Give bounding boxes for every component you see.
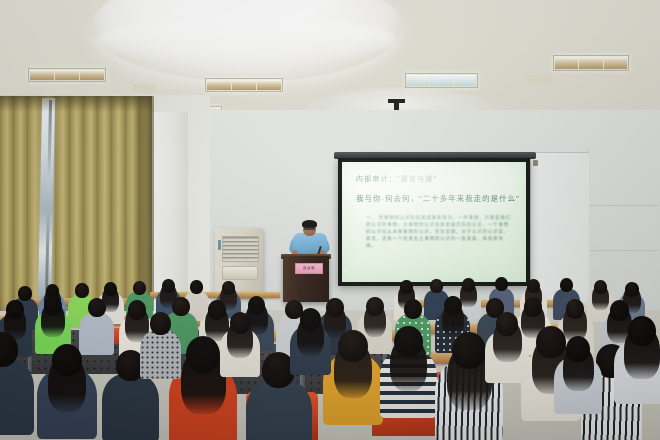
slide-subtitle-line: 我与你·何去何，"二十多年来我走的是什么" [356, 193, 514, 204]
slide-body-text: 一、 世事物的认识阶段其成果表现为，一件事情，只要是我们所认识的事物，大事物的认… [356, 214, 514, 249]
student-head [536, 326, 566, 358]
student-torso [0, 359, 34, 434]
student-head [6, 300, 24, 319]
lectern-sign-text: 讲台席 [303, 266, 315, 271]
glasses-icon [304, 227, 315, 230]
student-head [610, 300, 629, 321]
student-head [430, 279, 443, 293]
air-conditioner-control-panel[interactable] [222, 266, 258, 280]
student-head [88, 298, 106, 317]
student-head [300, 308, 321, 331]
student-head [326, 298, 344, 317]
student-head [496, 312, 518, 336]
student-head [172, 297, 190, 316]
student-torso [140, 330, 182, 379]
student-head [495, 277, 508, 291]
ceiling-dome-large-rim [96, 16, 396, 64]
screen-surface: 内部审计："语言与道" 我与你·何去何，"二十多年来我走的是什么" 一、 世事物… [342, 162, 526, 282]
student-head [162, 279, 175, 293]
recessed-grille-light-2 [205, 78, 283, 92]
student-head [190, 280, 203, 294]
student-head [366, 297, 384, 316]
student-head [400, 280, 413, 294]
student-head [628, 316, 656, 346]
recessed-grille-light-1 [28, 68, 106, 82]
student-torso [102, 374, 159, 440]
student-head [52, 344, 82, 376]
student-head [128, 300, 146, 320]
slide-title-line: 内部审计："语言与道" [356, 174, 514, 184]
ceiling-blank-panel-2 [527, 75, 553, 85]
student-torso [246, 380, 312, 440]
student-head [222, 281, 235, 295]
door-latch[interactable] [533, 160, 538, 166]
ceiling-blank-panel-1 [133, 84, 155, 93]
recessed-grille-light-4 [553, 55, 629, 71]
projection-screen[interactable]: 内部审计："语言与道" 我与你·何去何，"二十多年来我走的是什么" 一、 世事物… [338, 158, 530, 286]
student-head [230, 312, 250, 334]
student-head [394, 326, 423, 357]
student-head [248, 296, 265, 315]
student-head [44, 296, 62, 316]
air-conditioner-grille [222, 236, 259, 262]
student-head [404, 299, 422, 319]
student-head [625, 282, 639, 297]
recessed-grille-light-3 [405, 73, 478, 88]
student-head [452, 332, 486, 369]
student-head [75, 283, 89, 298]
student-head [462, 278, 475, 292]
student-head [566, 299, 584, 319]
lecture-hall-photo: 内部审计："语言与道" 我与你·何去何，"二十多年来我走的是什么" 一、 世事物… [0, 0, 660, 440]
student-head [208, 300, 226, 320]
student-head [524, 297, 542, 317]
student-head [18, 286, 32, 301]
lectern-name-sign: 讲台席 [295, 263, 323, 274]
student-head [444, 296, 462, 315]
right-wall-door-panel[interactable] [530, 152, 589, 303]
air-conditioner-indicator-icon [218, 240, 221, 250]
student-head [150, 312, 171, 335]
student-head [186, 336, 220, 373]
student-torso [79, 313, 114, 355]
student-head [566, 336, 590, 362]
student-head [338, 330, 368, 362]
curtain-fold-shadow [130, 96, 154, 311]
